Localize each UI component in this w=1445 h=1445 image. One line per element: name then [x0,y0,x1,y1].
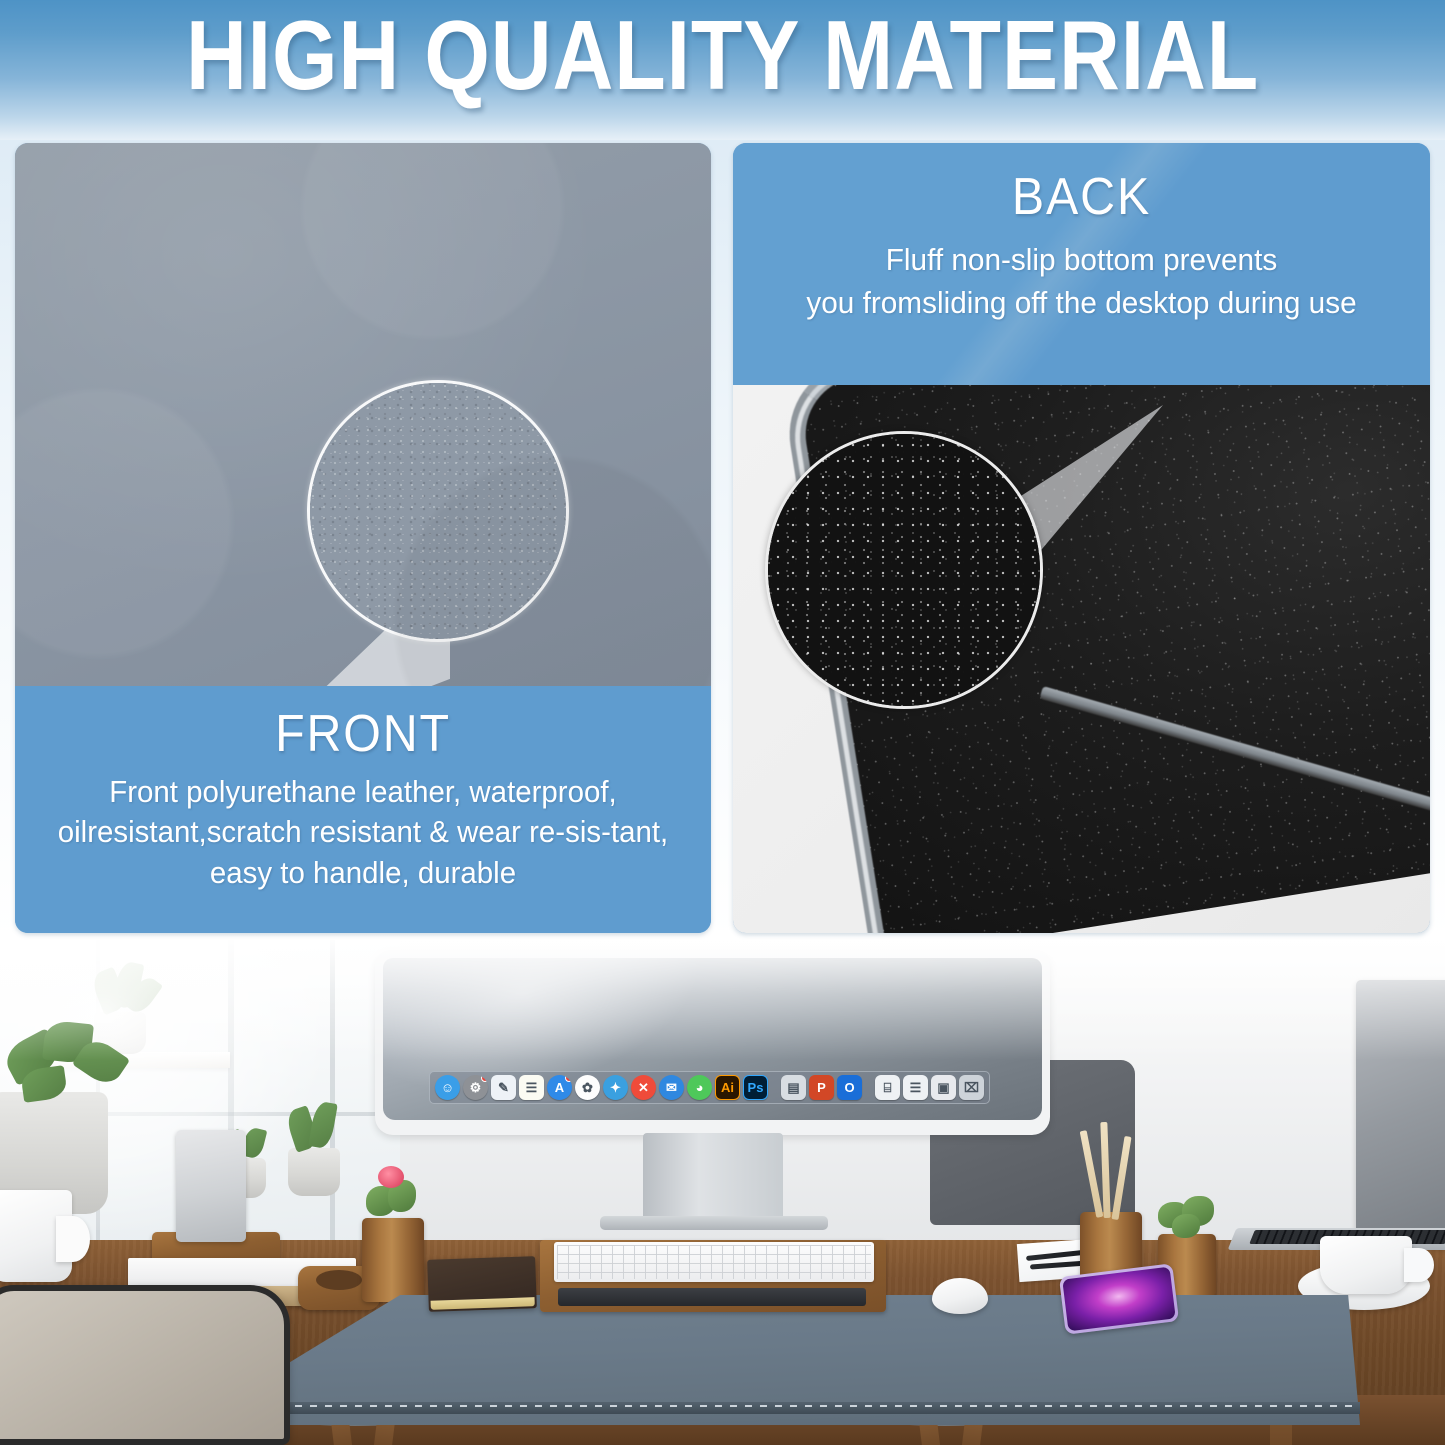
feature-panels: FRONT Front polyurethane leather, waterp… [0,140,1445,940]
back-fluff-photo [733,385,1430,933]
system-settings-icon[interactable]: ⚙ [463,1075,488,1100]
front-caption: FRONT Front polyurethane leather, waterp… [15,686,711,933]
document-icon[interactable]: ☰ [903,1075,928,1100]
apple-keyboard [554,1242,874,1282]
front-description: Front polyurethane leather, waterproof, … [32,772,693,893]
front-label: FRONT [39,704,686,764]
leather-grain-texture [307,380,569,642]
notes-icon[interactable]: ☰ [519,1075,544,1100]
photos-icon[interactable]: ✿ [575,1075,600,1100]
laptop-screen [1356,980,1445,1248]
wechat-icon[interactable]: ◕ [687,1075,712,1100]
front-leather-photo [15,143,711,686]
macos-dock[interactable]: ☺⚙✎☰A✿✦✕✉◕AiPs▤PO⌸☰▣⌧ [429,1071,990,1104]
notification-badge [481,1075,488,1082]
white-mouse [932,1278,988,1314]
back-magnifier-circle [765,431,1043,709]
front-magnifier-circle [307,380,569,642]
fluff-fiber-texture [765,431,1043,709]
app-store-icon[interactable]: A [547,1075,572,1100]
flower [378,1166,404,1188]
mug-handle [56,1216,90,1262]
back-caption: BACK Fluff non-slip bottom prevents you … [733,143,1430,385]
notebook-pages [431,1297,535,1310]
monitor-foot [600,1216,828,1230]
spreadsheet-icon[interactable]: ⌸ [875,1075,900,1100]
standing-smartphone [176,1130,246,1242]
back-description-line1: Fluff non-slip bottom prevents [747,239,1416,280]
scanner-icon[interactable]: ▤ [781,1075,806,1100]
illustrator-icon[interactable]: Ai [715,1075,740,1100]
trash-icon[interactable]: ⌧ [959,1075,984,1100]
wooden-pen-holder [362,1218,424,1302]
safari-icon[interactable]: ✦ [603,1075,628,1100]
xmind-icon[interactable]: ✕ [631,1075,656,1100]
mail-icon[interactable]: ✉ [659,1075,684,1100]
keyboard-keys [557,1245,871,1279]
back-panel: BACK Fluff non-slip bottom prevents you … [733,143,1430,933]
coaster-hollow [316,1270,362,1290]
notification-badge [565,1075,572,1082]
phone-screen [1062,1267,1176,1332]
wrist-rest [558,1288,866,1306]
preview-icon[interactable]: ✎ [491,1075,516,1100]
front-magnifier-cone [240,558,450,686]
desk-mat-stitched-edge [175,1402,1360,1414]
powerpoint-icon[interactable]: P [809,1075,834,1100]
cup-handle [1404,1248,1434,1282]
monitor-screen: ☺⚙✎☰A✿✦✕✉◕AiPs▤PO⌸☰▣⌧ [383,958,1042,1120]
coffee-cup [1320,1236,1412,1294]
finder-icon[interactable]: ☺ [435,1075,460,1100]
desk-lifestyle-photo: ☺⚙✎☰A✿✦✕✉◕AiPs▤PO⌸☰▣⌧ [0,940,1445,1445]
office-chair-foreground [0,1285,290,1445]
succulent [1172,1214,1200,1238]
notebook [427,1256,537,1312]
back-description-line2: you fromsliding off the desktop during u… [747,282,1416,323]
imac-monitor: ☺⚙✎☰A✿✦✕✉◕AiPs▤PO⌸☰▣⌧ [375,950,1050,1135]
monitor-neck [643,1133,783,1221]
front-panel: FRONT Front polyurethane leather, waterp… [15,143,711,933]
back-label: BACK [757,167,1405,227]
photoshop-icon[interactable]: Ps [743,1075,768,1100]
screenshot-icon[interactable]: ▣ [931,1075,956,1100]
outlook-icon[interactable]: O [837,1075,862,1100]
header-banner: HIGH QUALITY MATERIAL [0,0,1445,150]
sill-plant-pot [288,1148,340,1196]
page-title: HIGH QUALITY MATERIAL [101,6,1344,106]
